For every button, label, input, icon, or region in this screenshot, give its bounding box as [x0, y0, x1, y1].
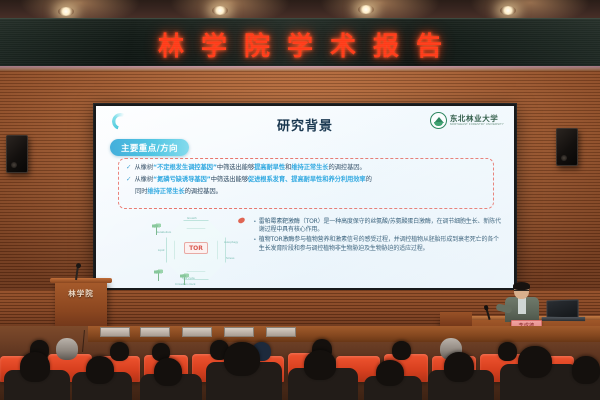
desk-side-panel — [440, 312, 472, 326]
audience-head — [56, 338, 78, 360]
audience-head — [154, 358, 182, 386]
bullet-text-3: 同时维持正常生长的调控基因。 — [135, 187, 222, 196]
lecture-hall-photo: 林 学 院 学 术 报 告 研究背景 东北林业大学 NORTHEAST FORE… — [0, 0, 600, 400]
audience-head — [376, 360, 404, 386]
led-banner-text: 林 学 院 学 术 报 告 — [0, 19, 600, 68]
plant-illustration — [180, 272, 189, 285]
led-char-4: 学 — [287, 26, 313, 63]
note-item: • 雷帕霉素靶激酶（TOR）是一种高度保守的丝氨酸/苏氨酸蛋白激酶，在调节细胞生… — [254, 218, 504, 234]
university-emblem-icon — [430, 112, 447, 129]
counter-panel — [140, 327, 170, 337]
ceiling-light — [58, 7, 74, 16]
key-points-box: ✓ 从橡树“不定根发生调控基因”中筛选出能够提高耐旱性和维持正常生长的调控基因。… — [118, 158, 494, 209]
led-char-3: 院 — [244, 26, 270, 63]
led-char-5: 术 — [330, 26, 356, 63]
counter-panel — [224, 327, 254, 337]
speaker-person — [505, 283, 539, 321]
red-accent-shape — [237, 217, 245, 224]
tor-label-autophagy: Autophagy — [224, 240, 238, 244]
university-name-en: NORTHEAST FORESTRY UNIVERSITY — [450, 124, 504, 127]
led-char-7: 告 — [416, 26, 442, 63]
bullet-text-2: 从橡树“氮磷亏缺诱导基因”中筛选出能够促进根系发育、提高耐旱性和养分利用效率的 — [134, 175, 371, 184]
led-char-2: 学 — [201, 26, 227, 63]
bullet-item: ✓ 从橡树“氮磷亏缺诱导基因”中筛选出能够促进根系发育、提高耐旱性和养分利用效率… — [126, 175, 486, 184]
audience-head — [572, 356, 600, 384]
audience-head — [518, 346, 552, 378]
tor-label-growth: Growth — [187, 216, 197, 220]
tor-label-stress: Stress — [226, 256, 235, 260]
bullet-dot-icon: • — [254, 236, 256, 252]
tor-core-label: TOR — [184, 242, 208, 254]
laptop-screen — [546, 299, 578, 318]
note-text-2: 植物TOR激酶参与植物营养和激素信号的感受过程，并调控植物从胚胎形成到衰老死亡的… — [259, 236, 504, 252]
podium-top — [50, 278, 112, 283]
audience-head — [20, 352, 50, 382]
speaker-glasses-icon — [514, 290, 529, 293]
audience-head — [498, 342, 517, 361]
speaker-shirt — [518, 298, 526, 314]
bullet-item: 同时维持正常生长的调控基因。 — [135, 187, 486, 196]
audience-head — [392, 341, 411, 360]
audience-head — [304, 350, 336, 380]
wall-speaker-left — [6, 135, 28, 173]
counter-panel — [266, 327, 296, 337]
counter-panel — [100, 327, 130, 337]
led-banner: 林 学 院 学 术 报 告 — [0, 18, 600, 68]
presentation-slide: 研究背景 东北林业大学 NORTHEAST FORESTRY UNIVERSIT… — [96, 106, 514, 288]
check-icon: ✓ — [126, 175, 131, 184]
slide-notes: • 雷帕霉素靶激酶（TOR）是一种高度保守的丝氨酸/苏氨酸蛋白激酶，在调节细胞生… — [254, 218, 504, 255]
ceiling-light — [358, 5, 374, 14]
podium-label: 林学院 — [58, 288, 104, 299]
counter-panel — [182, 327, 212, 337]
audience-head — [110, 342, 129, 361]
section-badge: 主要重点/方向 — [110, 139, 189, 156]
university-logo: 东北林业大学 NORTHEAST FORESTRY UNIVERSITY — [430, 112, 504, 129]
university-name-cn: 东北林业大学 — [450, 115, 504, 123]
tor-label-lipid: Lipid — [158, 248, 164, 252]
note-text-1: 雷帕霉素靶激酶（TOR）是一种高度保守的丝氨酸/苏氨酸蛋白激酶，在调节细胞生长、… — [259, 218, 504, 234]
note-item: • 植物TOR激酶参与植物营养和激素信号的感受过程，并调控植物从胚胎形成到衰老死… — [254, 236, 504, 252]
plant-illustration — [154, 268, 163, 281]
bullet-item: ✓ 从橡树“不定根发生调控基因”中筛选出能够提高耐旱性和维持正常生长的调控基因。 — [126, 163, 486, 172]
laptop-base — [542, 317, 586, 321]
ceiling-light — [212, 6, 228, 15]
bullet-text-1: 从橡树“不定根发生调控基因”中筛选出能够提高耐旱性和维持正常生长的调控基因。 — [134, 163, 365, 172]
ceiling-light — [500, 6, 516, 15]
audience-head — [444, 352, 474, 382]
led-char-6: 报 — [373, 26, 399, 63]
tor-pathway-diagram: TOR Growth Autophagy Stress Cell cycle L… — [154, 216, 246, 284]
audience-head — [86, 356, 114, 384]
wall-speaker-right — [556, 128, 578, 166]
bullet-dot-icon: • — [254, 218, 256, 234]
plant-illustration — [152, 222, 161, 235]
led-char-1: 林 — [158, 26, 184, 63]
check-icon: ✓ — [126, 163, 131, 172]
audience-head — [224, 342, 260, 376]
